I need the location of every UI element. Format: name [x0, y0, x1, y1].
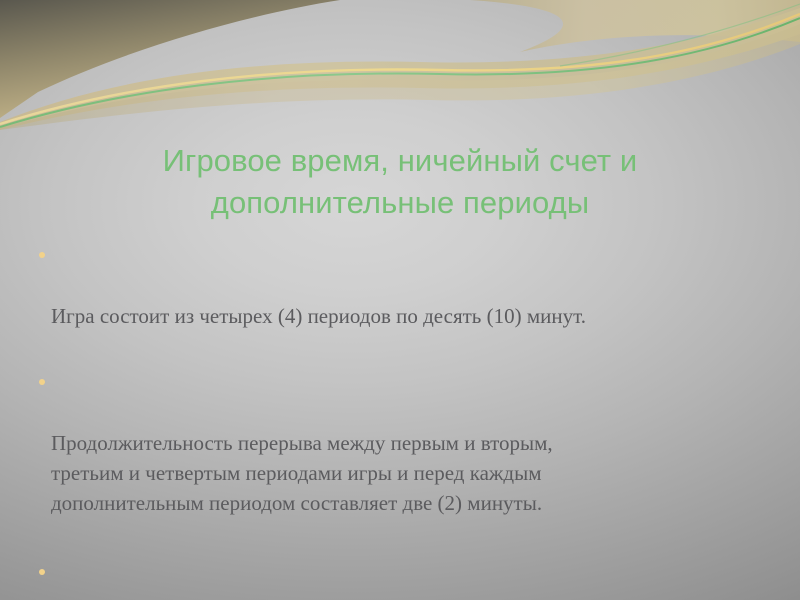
bullet-dot-icon: [39, 252, 45, 258]
bullet-item: Продолжительность перерыва между первым …: [38, 368, 738, 518]
bullet-dot-icon: [39, 379, 45, 385]
bullet-item: Игра состоит из четырех (4) периодов по …: [38, 241, 738, 331]
wave-ribbon-header-decoration: [0, 0, 800, 130]
bullet-text: Игра состоит из четырех (4) периодов по …: [51, 304, 586, 328]
slide-body-content: Игра состоит из четырех (4) периодов по …: [38, 241, 738, 600]
bullet-dot-icon: [39, 569, 45, 575]
bullet-item: Продолжительность перерыва между половин…: [38, 558, 738, 600]
presentation-slide: Игровое время, ничейный счет и дополните…: [0, 0, 800, 600]
bullet-text: Продолжительность перерыва между первым …: [51, 431, 553, 515]
bullet-spacer: [38, 331, 738, 368]
slide-title: Игровое время, ничейный счет и дополните…: [60, 140, 740, 224]
bullet-spacer: [38, 518, 738, 558]
